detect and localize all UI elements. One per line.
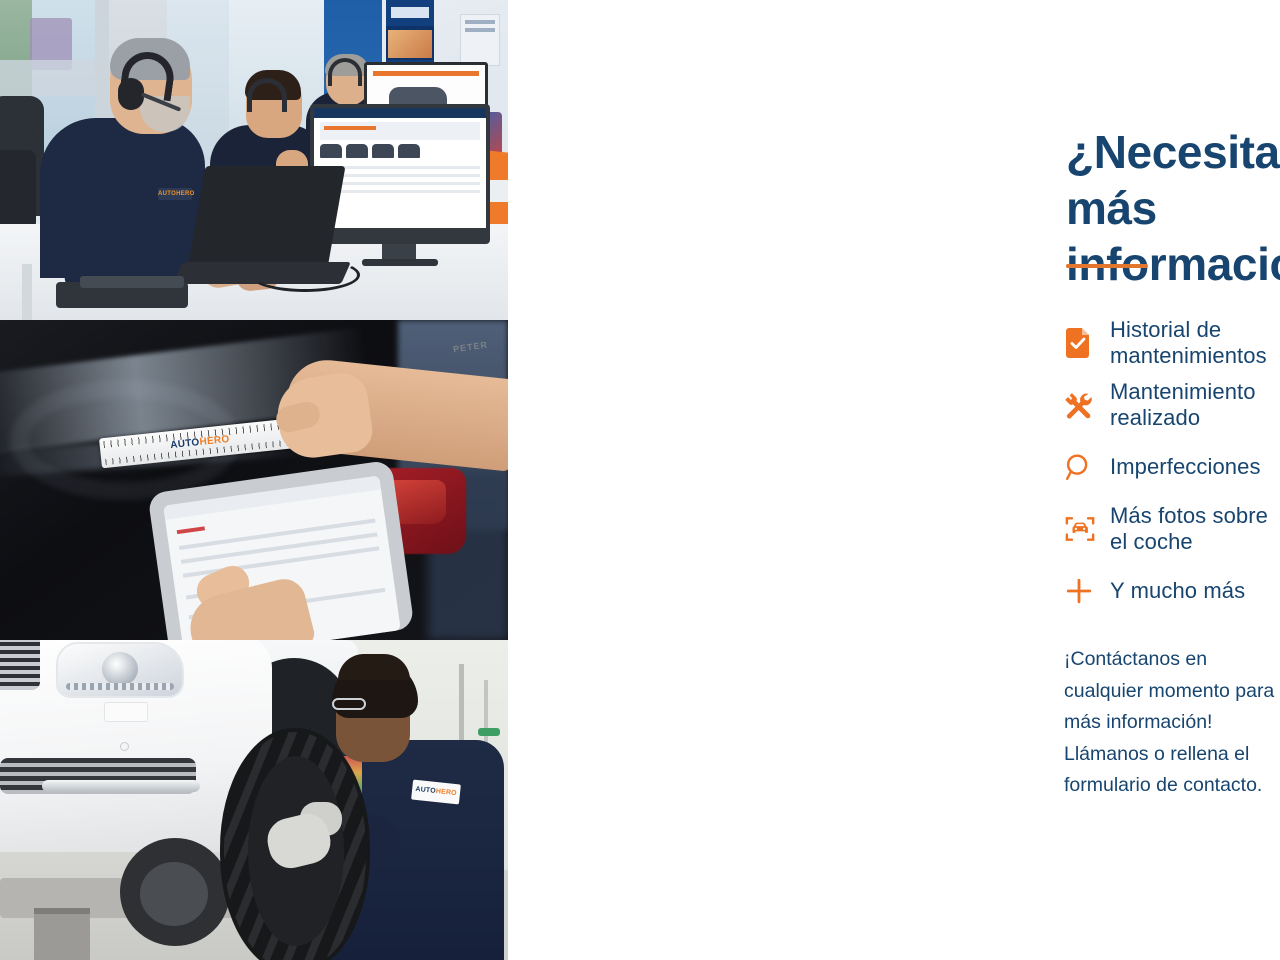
workshop-wheel-photo: AUTOHERO	[0, 640, 508, 960]
feature-label: Imperfecciones	[1110, 454, 1261, 480]
promo-page: AUTOHERO AUTOHERO	[0, 0, 1280, 960]
feature-item-fotos: Más fotos sobre el coche	[1064, 498, 1280, 560]
car-viewfinder-icon	[1064, 514, 1110, 544]
title-divider	[1066, 264, 1148, 268]
document-check-icon	[1064, 327, 1110, 359]
feature-label: Historial de mantenimientos	[1110, 317, 1280, 369]
feature-item-mucho-mas: Y mucho más	[1064, 560, 1280, 622]
wrench-screwdriver-icon	[1064, 390, 1110, 420]
magnifier-icon	[1064, 452, 1110, 482]
call-center-agents-photo: AUTOHERO	[0, 0, 508, 320]
feature-label: Mantenimiento realizado	[1110, 379, 1280, 431]
feature-item-imperfecciones: Imperfecciones	[1064, 436, 1280, 498]
feature-label: Y mucho más	[1110, 578, 1245, 604]
info-panel: ¿Necesitas más información? Estamos enca…	[508, 0, 1280, 960]
feature-label: Más fotos sobre el coche	[1110, 503, 1280, 555]
autohero-shirt-badge: AUTOHERO	[158, 188, 192, 200]
feature-item-historial: Historial de mantenimientos	[1064, 312, 1280, 374]
feature-list: Historial de mantenimientos Mantenimient…	[1064, 312, 1280, 622]
feature-item-mantenimiento: Mantenimiento realizado	[1064, 374, 1280, 436]
plus-icon	[1064, 576, 1110, 606]
photo-column: AUTOHERO AUTOHERO	[0, 0, 508, 960]
car-inspection-ruler-photo: AUTOHERO PETER	[0, 320, 508, 640]
contact-text: ¡Contáctanos en cualquier momento para m…	[1064, 644, 1280, 802]
